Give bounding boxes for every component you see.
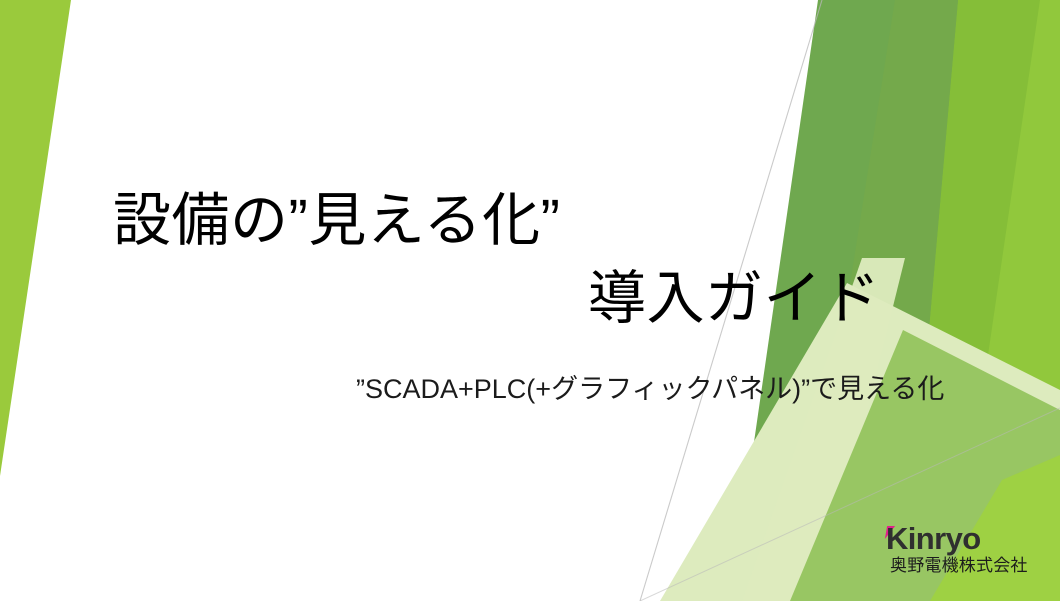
slide-subtitle: ”SCADA+PLC(+グラフィックパネル)”で見える化: [356, 374, 944, 405]
slide-title-line-1: 設備の”見える化”: [113, 192, 560, 250]
company-logo: Kinryo 奥野電機株式会社: [886, 526, 1006, 584]
title-text-block: 設備の”見える化” 導入ガイド ”SCADA+PLC(+グラフィックパネル)”で…: [0, 0, 1060, 601]
logo-wordmark-text: Kinryo: [886, 523, 981, 554]
logo-company-name: 奥野電機株式会社: [890, 557, 1028, 574]
slide-title-line-2: 導入ガイド: [588, 270, 881, 328]
logo-wordmark: Kinryo: [886, 526, 1006, 558]
title-slide: 設備の”見える化” 導入ガイド ”SCADA+PLC(+グラフィックパネル)”で…: [0, 0, 1060, 601]
